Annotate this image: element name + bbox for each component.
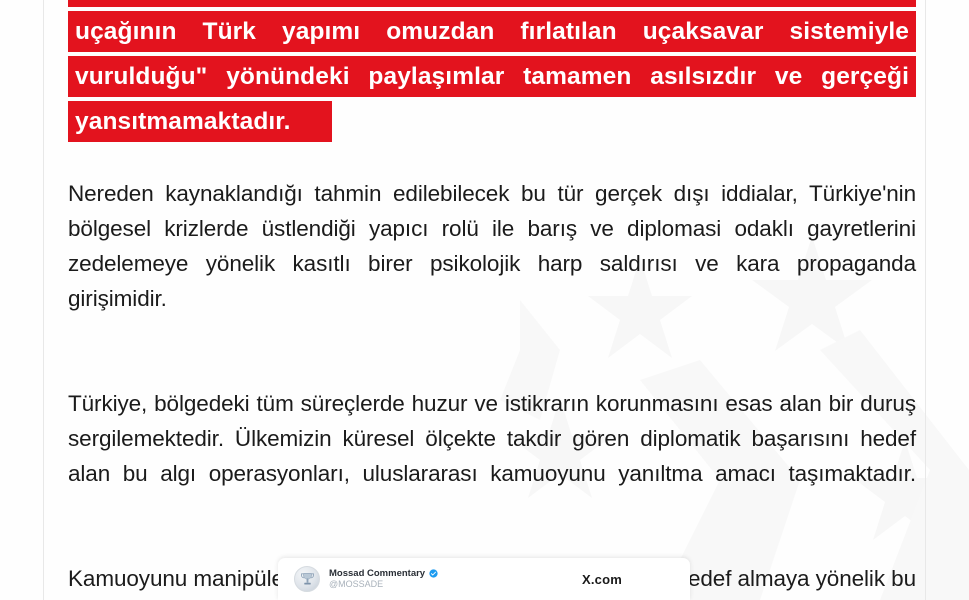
verified-badge-icon (429, 569, 438, 578)
headline-word: tamamen (523, 56, 631, 97)
headline-word: ve (775, 56, 802, 97)
paragraph: Türkiye, bölgedeki tüm süreçlerde huzur … (68, 386, 916, 526)
headline-word: omuzdan (386, 11, 494, 52)
social-preview-card[interactable]: Mossad Commentary @MOSSADE X.com (278, 558, 690, 600)
avatar (294, 566, 320, 592)
source-domain-label: X.com (582, 572, 674, 587)
headline-word: uçağının (75, 11, 177, 52)
headline-word: sistemiyle (789, 11, 909, 52)
page-rule-left (43, 0, 44, 600)
account-info: Mossad Commentary @MOSSADE (329, 569, 438, 589)
headline-word: yönündeki (226, 56, 349, 97)
highlighted-headline: uçağının Türk yapımı omuzdan fırlatılan … (68, 0, 916, 142)
headline-word: Türk (203, 11, 257, 52)
account-handle: @MOSSADE (329, 580, 438, 589)
headline-line-3: yansıtmamaktadır. (68, 101, 332, 142)
account-name: Mossad Commentary (329, 569, 425, 579)
headline-line-2: vurulduğu" yönündeki paylaşımlar tamamen… (68, 56, 916, 97)
body-text: Nereden kaynaklandığı tahmin edilebilece… (68, 176, 916, 600)
headline-word: asılsızdır (650, 56, 756, 97)
headline-word: paylaşımlar (368, 56, 504, 97)
document-page: uçağının Türk yapımı omuzdan fırlatılan … (0, 0, 969, 600)
headline-word: yapımı (282, 11, 360, 52)
paragraph: Nereden kaynaklandığı tahmin edilebilece… (68, 176, 916, 351)
document-content: uçağının Türk yapımı omuzdan fırlatılan … (68, 0, 916, 600)
headline-line-1: uçağının Türk yapımı omuzdan fırlatılan … (68, 11, 916, 52)
headline-word: uçaksavar (643, 11, 764, 52)
headline-word: fırlatılan (520, 11, 616, 52)
headline-word: yansıtmamaktadır. (75, 101, 291, 142)
account-name-row: Mossad Commentary (329, 569, 438, 579)
headline-word: vurulduğu" (75, 56, 207, 97)
headline-word: gerçeği (821, 56, 909, 97)
trophy-icon (299, 571, 316, 588)
page-rule-right (925, 0, 926, 600)
headline-top-sliver (68, 0, 916, 7)
